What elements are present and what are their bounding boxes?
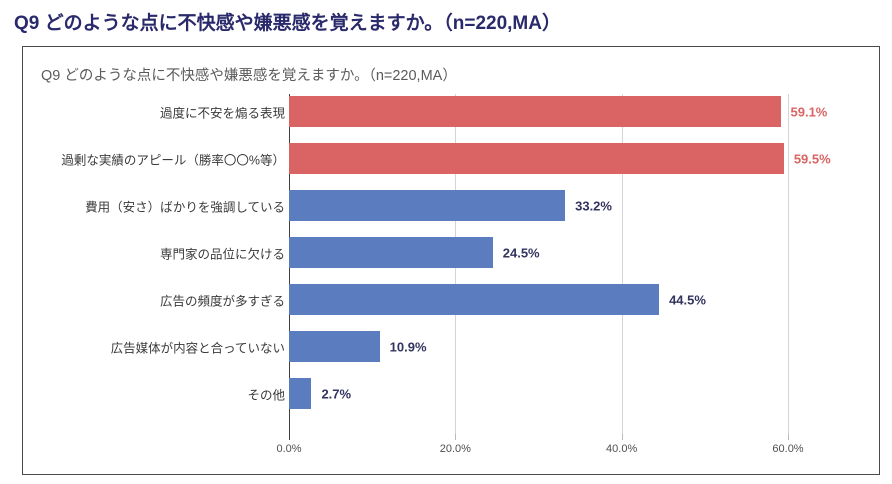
bar[interactable]	[289, 143, 784, 174]
bar-row: 過度に不安を煽る表現59.1%	[23, 96, 881, 127]
bar-value-label: 2.7%	[321, 386, 351, 401]
bar[interactable]	[289, 331, 380, 362]
x-tick-label: 40.0%	[606, 443, 637, 455]
category-label: 過度に不安を煽る表現	[160, 102, 285, 121]
x-tick-label: 60.0%	[772, 443, 803, 455]
category-label: 過剰な実績のアピール（勝率〇〇%等）	[61, 149, 285, 168]
bar-row: 費用（安さ）ばかりを強調している33.2%	[23, 190, 881, 221]
tick-40	[622, 434, 623, 440]
category-label: その他	[247, 384, 285, 403]
bar-row: 専門家の品位に欠ける24.5%	[23, 237, 881, 268]
bar-value-label: 24.5%	[503, 245, 540, 260]
bar[interactable]	[289, 378, 311, 409]
bar-value-label: 59.1%	[791, 104, 828, 119]
bar-value-label: 44.5%	[669, 292, 706, 307]
bar-row: 過剰な実績のアピール（勝率〇〇%等）59.5%	[23, 143, 881, 174]
bar[interactable]	[289, 237, 493, 268]
tick-0	[289, 434, 290, 440]
bar[interactable]	[289, 190, 565, 221]
bar[interactable]	[289, 284, 659, 315]
x-tick-label: 20.0%	[440, 443, 471, 455]
bar-row: その他2.7%	[23, 378, 881, 409]
category-label: 専門家の品位に欠ける	[160, 243, 285, 262]
category-label: 費用（安さ）ばかりを強調している	[85, 196, 285, 215]
bar-value-label: 10.9%	[390, 339, 427, 354]
bar-row: 広告の頻度が多すぎる44.5%	[23, 284, 881, 315]
category-label: 広告媒体が内容と合っていない	[111, 337, 285, 356]
bar-row: 広告媒体が内容と合っていない10.9%	[23, 331, 881, 362]
page-title: Q9 どのような点に不快感や嫌悪感を覚えますか。（n=220,MA）	[14, 8, 561, 35]
bar[interactable]	[289, 96, 781, 127]
tick-60	[788, 434, 789, 440]
bar-value-label: 33.2%	[575, 198, 612, 213]
category-label: 広告の頻度が多すぎる	[160, 290, 285, 309]
tick-20	[455, 434, 456, 440]
bar-value-label: 59.5%	[794, 151, 831, 166]
chart-container: Q9 どのような点に不快感や嫌悪感を覚えますか。（n=220,MA） 0.0%2…	[22, 46, 880, 475]
chart-plot-area: 0.0%20.0%40.0%60.0% 過度に不安を煽る表現59.1%過剰な実績…	[23, 47, 881, 476]
x-tick-label: 0.0%	[276, 443, 301, 455]
